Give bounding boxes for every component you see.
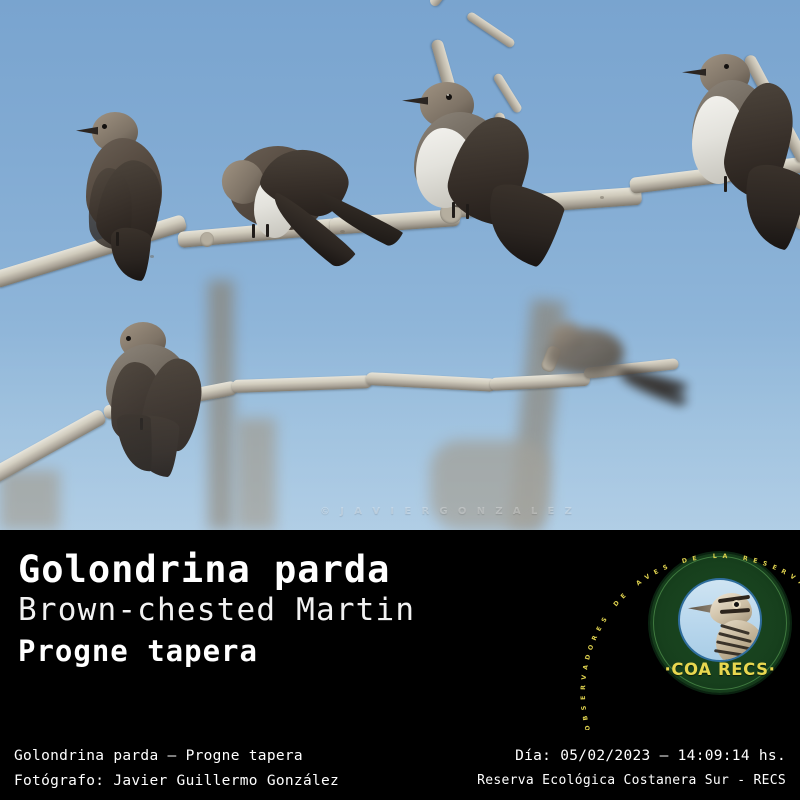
bird-perched-right: [686, 54, 800, 254]
logo-bird-eye: [732, 600, 741, 609]
common-name-title: Golondrina parda: [18, 548, 390, 591]
tree-branch-fork: [428, 0, 474, 8]
english-name-subtitle: Brown-chested Martin: [18, 592, 415, 628]
bird-eye: [724, 64, 729, 69]
scientific-name-subtitle: Progne tapera: [18, 634, 258, 668]
footer-bar: [0, 730, 800, 800]
footer-location-label: Reserva Ecológica Costanera Sur - RECS: [477, 773, 786, 788]
bird-perched-left-upper: [78, 108, 198, 278]
sky-haze: [0, 330, 800, 530]
bird-perched-center-right: [408, 82, 578, 272]
bird-leg: [252, 224, 255, 238]
branch-knot: [200, 232, 214, 247]
footer-datetime-label: Día: 05/02/2023 — 14:09:14 hs.: [515, 748, 786, 764]
photographer-watermark: © J A V I E R G O N Z A L E Z: [320, 506, 575, 517]
bird-eye-highlight: [447, 94, 449, 96]
photograph: © J A V I E R G O N Z A L E Z: [0, 0, 800, 530]
coa-recs-logo: CLUB DE OBSERVADORES DE AVES DE LA RESER…: [650, 553, 790, 693]
bird-photo-card: © J A V I E R G O N Z A L E Z Golondrina…: [0, 0, 800, 800]
bird-preening-center: [216, 132, 396, 302]
bird-leg: [724, 176, 727, 192]
bird-leg: [266, 224, 269, 237]
branch-speck: [600, 196, 604, 199]
bird-leg: [466, 204, 469, 219]
footer-photographer-label: Fotógrafo: Javier Guillermo González: [14, 773, 339, 789]
bird-leg: [116, 232, 119, 246]
tree-branch-fork: [465, 11, 516, 49]
logo-acronym: ·COA RECS·: [650, 660, 790, 679]
bird-eye: [102, 124, 107, 129]
bird-leg: [452, 202, 455, 218]
footer-species-label: Golondrina parda — Progne tapera: [14, 748, 303, 764]
bird-tail: [108, 227, 152, 282]
logo-inner-circle: [678, 578, 762, 662]
